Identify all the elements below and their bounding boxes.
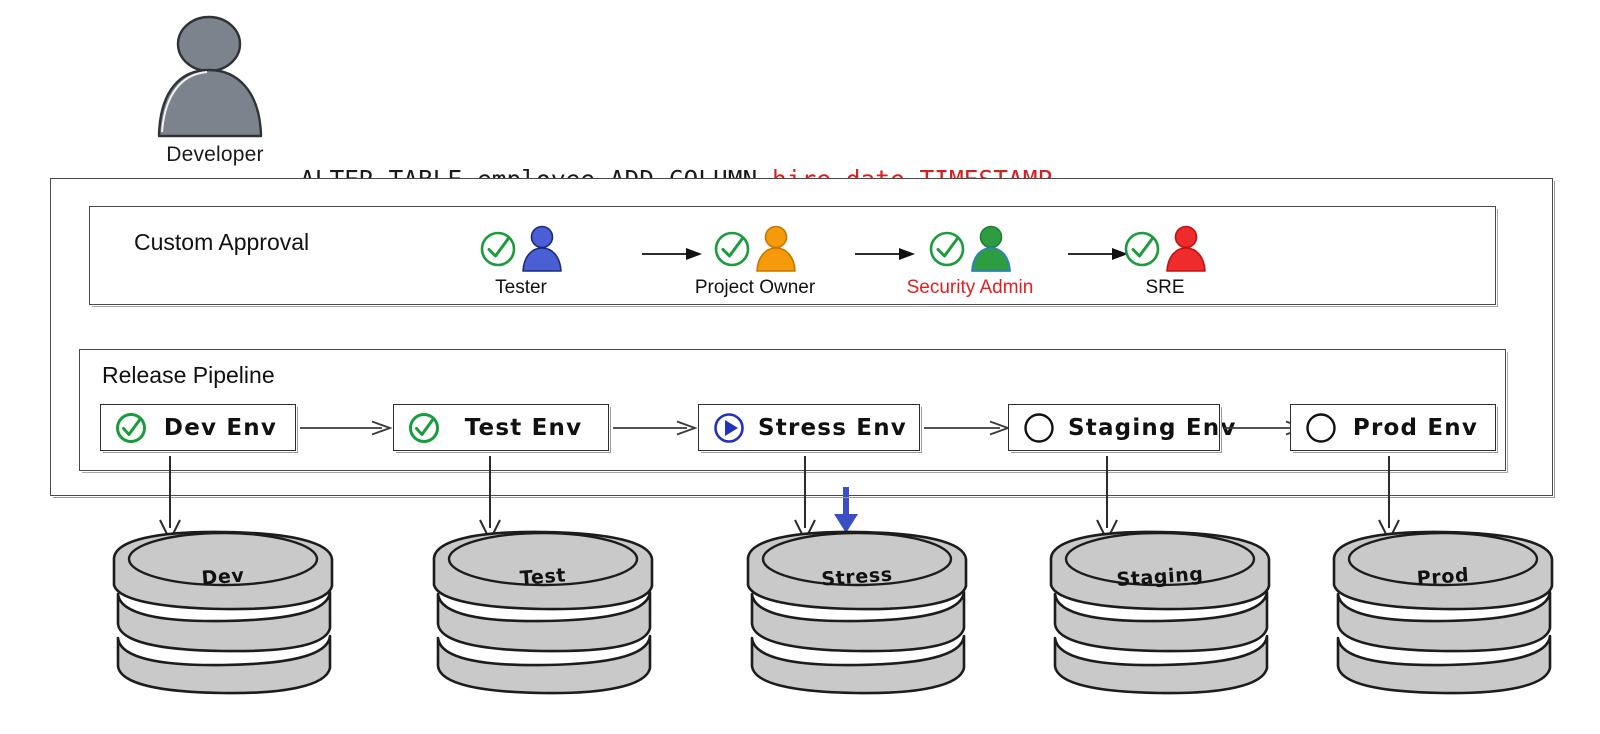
check-circle-icon: [478, 229, 518, 269]
workflow-frame: Custom Approval Tester: [50, 178, 1553, 496]
developer-label: Developer: [150, 143, 280, 167]
check-circle-icon: [407, 411, 441, 445]
custom-approval-title: Custom Approval: [134, 229, 309, 256]
pipeline-stage-label: Dev Env: [160, 415, 295, 441]
approver-sre[interactable]: SRE: [1090, 223, 1240, 299]
approver-label: SRE: [1090, 277, 1240, 299]
database-icon: [742, 528, 972, 698]
database-icon: [428, 528, 658, 698]
person-icon: [1164, 225, 1208, 273]
pipeline-stage-label: Prod Env: [1350, 415, 1495, 441]
database-staging[interactable]: Staging: [1045, 528, 1275, 698]
check-circle-icon: [927, 229, 967, 269]
person-icon: [754, 225, 798, 273]
approver-label: Project Owner: [680, 277, 830, 299]
empty-circle-icon: [1022, 411, 1056, 445]
play-circle-icon: [712, 411, 746, 445]
approver-label: Security Admin: [895, 277, 1045, 299]
person-icon: [969, 225, 1013, 273]
pipeline-stage-prod-env[interactable]: Prod Env: [1290, 404, 1496, 451]
database-icon: [1045, 528, 1275, 698]
database-dev[interactable]: Dev: [108, 528, 338, 698]
diagram-canvas: Developer ALTER TABLE employee ADD COLUM…: [0, 0, 1600, 734]
pipeline-arrow-1: [300, 420, 392, 436]
check-circle-icon: [1122, 229, 1162, 269]
empty-circle-icon: [1304, 411, 1338, 445]
release-pipeline-panel: Release Pipeline Dev Env Test Env: [79, 349, 1506, 471]
pipeline-arrow-3: [924, 420, 1010, 436]
pipeline-stage-label: Test Env: [453, 415, 608, 441]
pipeline-stage-dev-env[interactable]: Dev Env: [100, 404, 296, 451]
database-test[interactable]: Test: [428, 528, 658, 698]
database-stress[interactable]: Stress: [742, 528, 972, 698]
approver-project-owner[interactable]: Project Owner: [680, 223, 830, 299]
pipeline-stage-staging-env[interactable]: Staging Env: [1008, 404, 1220, 451]
check-circle-icon: [712, 229, 752, 269]
pipeline-stage-label: Stress Env: [758, 415, 921, 441]
approver-label: Tester: [446, 277, 596, 299]
custom-approval-panel: Custom Approval Tester: [89, 206, 1496, 305]
pipeline-stage-stress-env[interactable]: Stress Env: [698, 404, 920, 451]
developer-actor: Developer: [150, 14, 280, 167]
database-prod[interactable]: Prod: [1328, 528, 1558, 698]
release-pipeline-title: Release Pipeline: [102, 362, 275, 389]
person-icon: [150, 14, 268, 139]
check-circle-icon: [114, 411, 148, 445]
pipeline-stage-test-env[interactable]: Test Env: [393, 404, 609, 451]
approver-tester[interactable]: Tester: [446, 223, 596, 299]
down-arrow-icon: [826, 487, 866, 533]
person-icon: [520, 225, 564, 273]
approver-security-admin[interactable]: Security Admin: [895, 223, 1045, 299]
database-icon: [1328, 528, 1558, 698]
pipeline-arrow-2: [613, 420, 697, 436]
database-icon: [108, 528, 338, 698]
